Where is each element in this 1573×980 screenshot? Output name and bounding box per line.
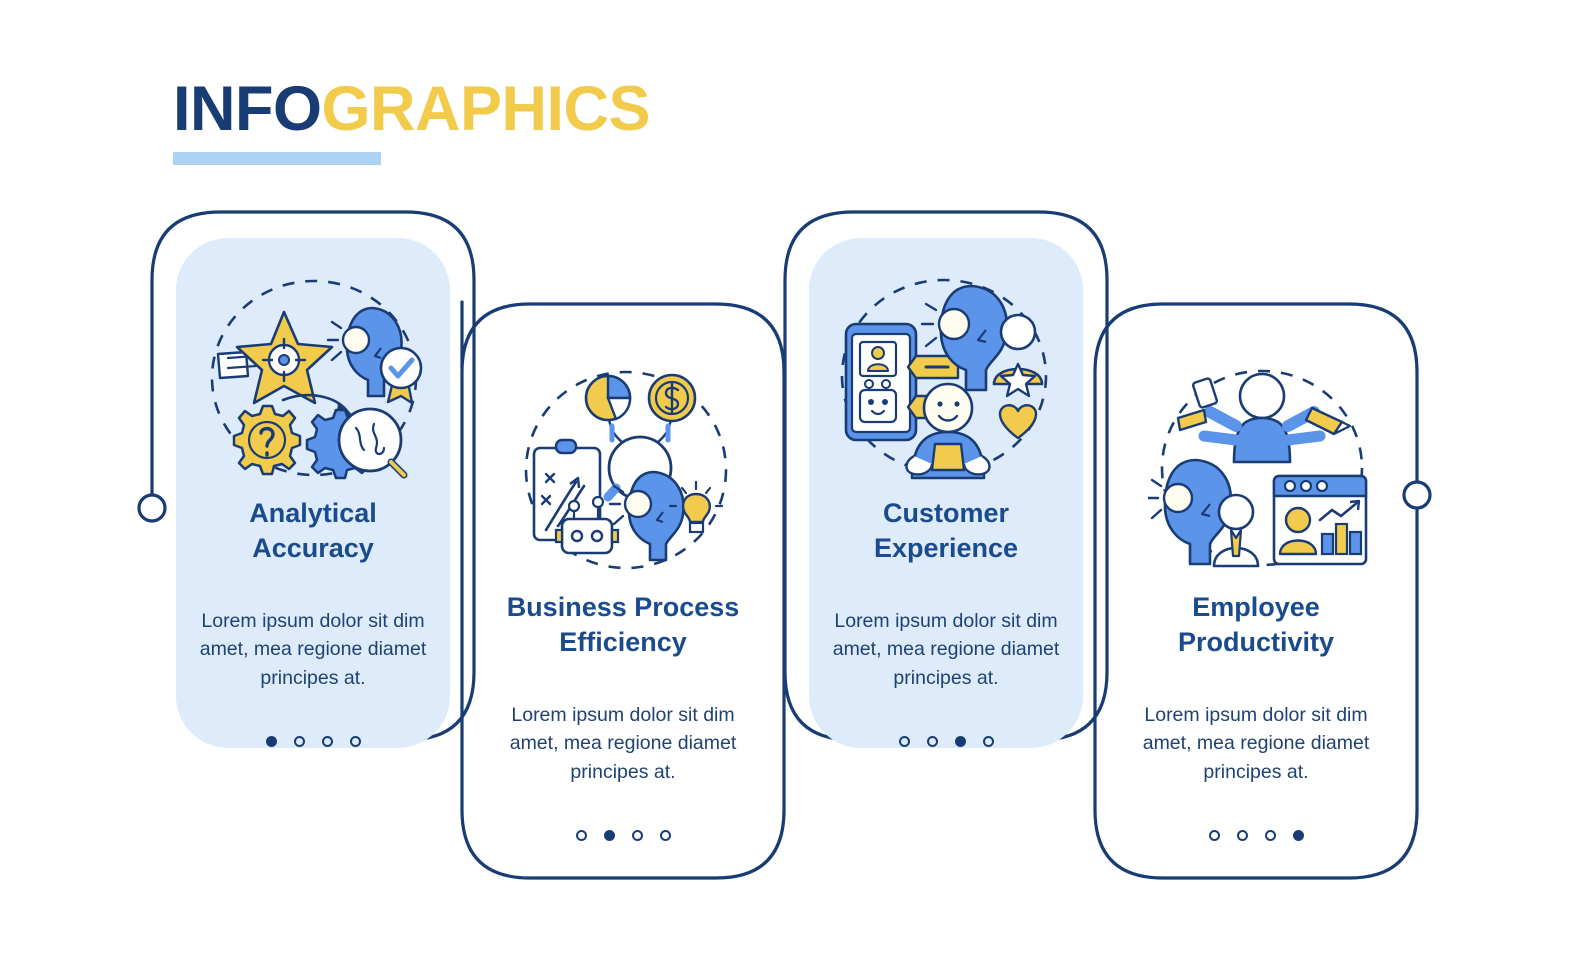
dot-4[interactable] bbox=[660, 830, 671, 841]
step-3-description: Lorem ipsum dolor sit dim amet, mea regi… bbox=[823, 607, 1069, 692]
step-4-title: EmployeeProductivity bbox=[1133, 590, 1379, 659]
step-3-title: CustomerExperience bbox=[823, 496, 1069, 565]
dot-3[interactable] bbox=[955, 736, 966, 747]
step-4-illustration bbox=[1148, 364, 1376, 579]
multitasking-person-icon bbox=[1178, 374, 1350, 462]
start-endpoint-circle bbox=[139, 495, 165, 521]
step-3-illustration bbox=[828, 272, 1060, 487]
step-4-content: EmployeeProductivity Lorem ipsum dolor s… bbox=[1133, 590, 1379, 841]
page-title: INFOGRAPHICS bbox=[173, 78, 650, 141]
star-icon bbox=[1001, 364, 1035, 396]
dot-4[interactable] bbox=[1293, 830, 1304, 841]
step-2-content: Business ProcessEfficiency Lorem ipsum d… bbox=[500, 590, 746, 841]
dot-1[interactable] bbox=[266, 736, 277, 747]
pie-chart-icon bbox=[586, 376, 630, 420]
step-2-illustration bbox=[512, 364, 740, 579]
step-3-content: CustomerExperience Lorem ipsum dolor sit… bbox=[823, 496, 1069, 747]
head-profile-businessperson-icon bbox=[1148, 460, 1258, 566]
dollar-coin-icon bbox=[649, 375, 695, 421]
dot-3[interactable] bbox=[632, 830, 643, 841]
gear-question-icon bbox=[234, 406, 300, 474]
dot-3[interactable] bbox=[1265, 830, 1276, 841]
dot-1[interactable] bbox=[899, 736, 910, 747]
person-star-rating-icon bbox=[994, 315, 1042, 396]
dot-2[interactable] bbox=[294, 736, 305, 747]
dot-2[interactable] bbox=[1237, 830, 1248, 841]
step-2-description: Lorem ipsum dolor sit dim amet, mea regi… bbox=[500, 701, 746, 786]
step-1-content: AnalyticalAccuracy Lorem ipsum dolor sit… bbox=[190, 496, 436, 747]
dot-2[interactable] bbox=[604, 830, 615, 841]
dot-1[interactable] bbox=[1209, 830, 1220, 841]
end-endpoint-circle bbox=[1404, 482, 1430, 508]
title-part-info: INFO bbox=[173, 74, 322, 144]
person-heart-icon bbox=[907, 384, 1037, 478]
dashboard-chart-window-icon bbox=[1274, 476, 1366, 564]
heart-icon bbox=[1000, 405, 1036, 438]
step-4-description: Lorem ipsum dolor sit dim amet, mea regi… bbox=[1133, 701, 1379, 786]
step-1-illustration bbox=[198, 272, 430, 487]
step-3-progress-dots bbox=[823, 736, 1069, 747]
step-4-progress-dots bbox=[1133, 830, 1379, 841]
infographic-canvas: INFOGRAPHICS bbox=[0, 0, 1573, 980]
gear-magnifier-icon bbox=[307, 409, 404, 478]
step-2-title: Business ProcessEfficiency bbox=[500, 590, 746, 659]
title-underline-rule bbox=[173, 152, 381, 165]
title-part-graphics: GRAPHICS bbox=[322, 74, 651, 144]
step-1-description: Lorem ipsum dolor sit dim amet, mea regi… bbox=[190, 607, 436, 692]
dot-4[interactable] bbox=[983, 736, 994, 747]
dot-4[interactable] bbox=[350, 736, 361, 747]
step-1-progress-dots bbox=[190, 736, 436, 747]
award-badge-icon bbox=[381, 348, 421, 388]
dot-3[interactable] bbox=[322, 736, 333, 747]
step-2-progress-dots bbox=[500, 830, 746, 841]
dot-1[interactable] bbox=[576, 830, 587, 841]
dot-2[interactable] bbox=[927, 736, 938, 747]
step-1-title: AnalyticalAccuracy bbox=[190, 496, 436, 565]
